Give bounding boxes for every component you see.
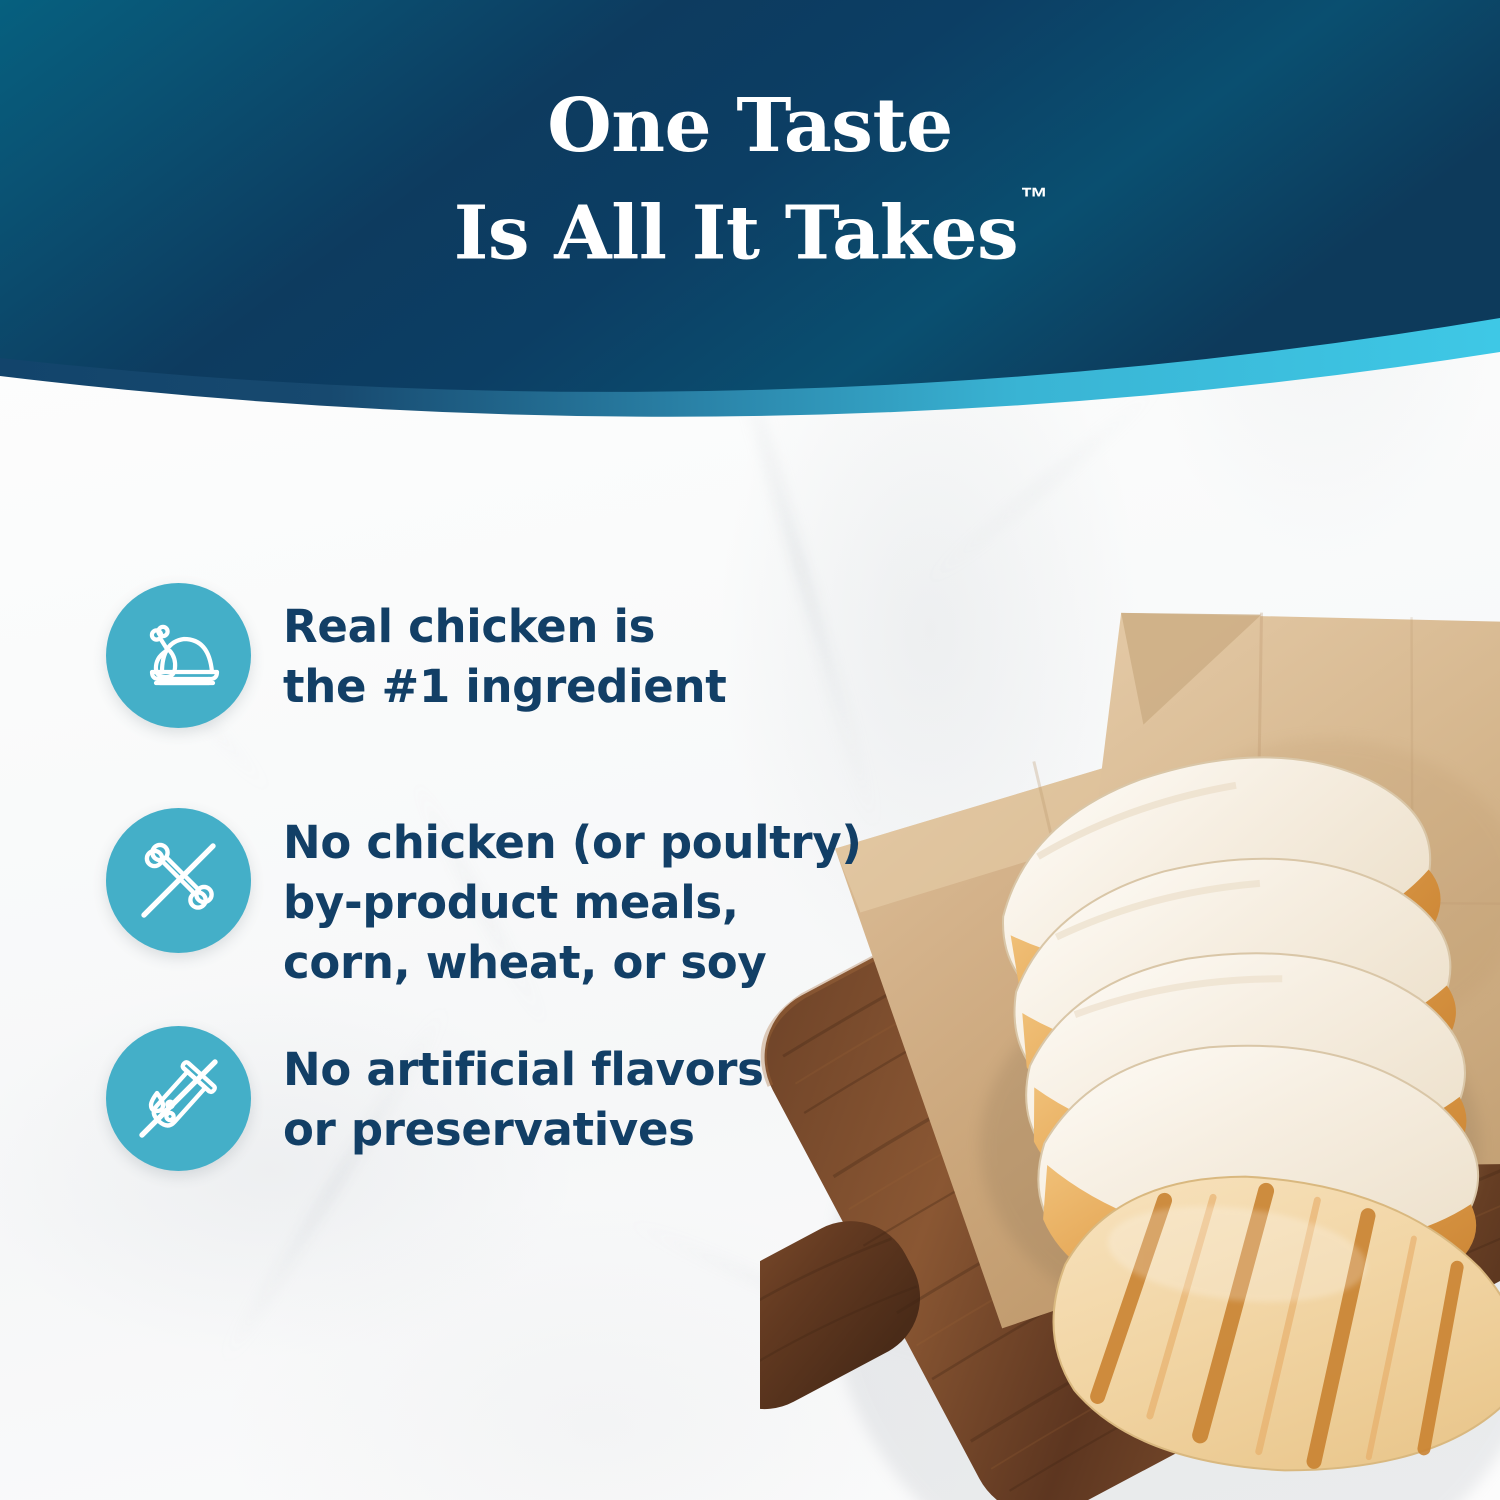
trademark-symbol: ™ xyxy=(1020,182,1048,213)
list-item: Real chicken is the #1 ingredient xyxy=(106,583,726,728)
list-item-label: Real chicken is the #1 ingredient xyxy=(283,583,726,717)
no-bone-icon xyxy=(106,808,251,953)
list-item-label: No chicken (or poultry) by-product meals… xyxy=(283,808,862,993)
roast-chicken-platter-icon xyxy=(106,583,251,728)
no-test-tube-icon xyxy=(106,1026,251,1171)
headline-line-2: Is All It Takes xyxy=(454,191,1018,277)
headline-line-1: One Taste xyxy=(0,78,1500,175)
product-benefits-graphic: One Taste Is All It Takes™ xyxy=(0,0,1500,1500)
list-item-label: No artificial flavors or preservatives xyxy=(283,1026,764,1160)
headline-line-2-wrap: Is All It Takes™ xyxy=(0,175,1500,283)
list-item: No artificial flavors or preservatives xyxy=(106,1026,764,1171)
page-title: One Taste Is All It Takes™ xyxy=(0,78,1500,283)
list-item: No chicken (or poultry) by-product meals… xyxy=(106,808,862,993)
